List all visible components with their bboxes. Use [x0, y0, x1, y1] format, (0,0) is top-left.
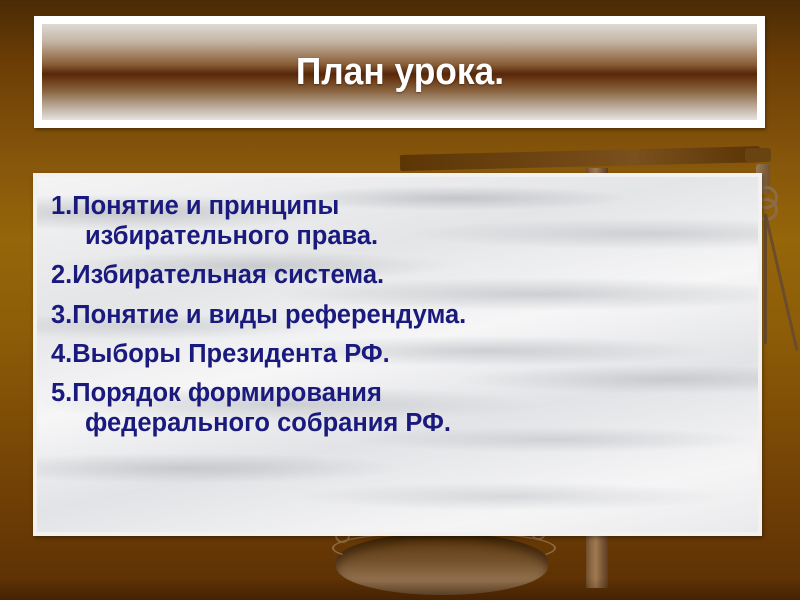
list-item: 3.Понятие и виды референдума.	[51, 300, 748, 330]
scale-pan-rim-icon	[332, 531, 556, 565]
list-item: 5.Порядок формирования федерального собр…	[51, 378, 748, 438]
slide-title-gradient-panel: План урока.	[42, 24, 757, 120]
list-item: 4.Выборы Президента РФ.	[51, 339, 748, 369]
scale-beam-icon	[400, 146, 760, 171]
page-title: План урока.	[295, 51, 503, 94]
list-item: 2.Избирательная система.	[51, 260, 748, 290]
list-item: 1.Понятие и принципы избирательного прав…	[51, 191, 748, 251]
slide-content-box: 1.Понятие и принципы избирательного прав…	[33, 173, 762, 536]
scale-chain-icon	[764, 214, 767, 344]
scale-beam-cap-icon	[745, 148, 771, 162]
lesson-plan-list: 1.Понятие и принципы избирательного прав…	[37, 177, 758, 438]
presentation-slide: План урока. 1.Понятие и принципы избират…	[0, 0, 800, 600]
slide-base-shadow	[0, 578, 800, 600]
scale-pan-icon	[336, 533, 548, 595]
scale-chain-icon	[764, 214, 798, 351]
marble-background: 1.Понятие и принципы избирательного прав…	[37, 177, 758, 532]
slide-title-box: План урока.	[34, 16, 765, 128]
